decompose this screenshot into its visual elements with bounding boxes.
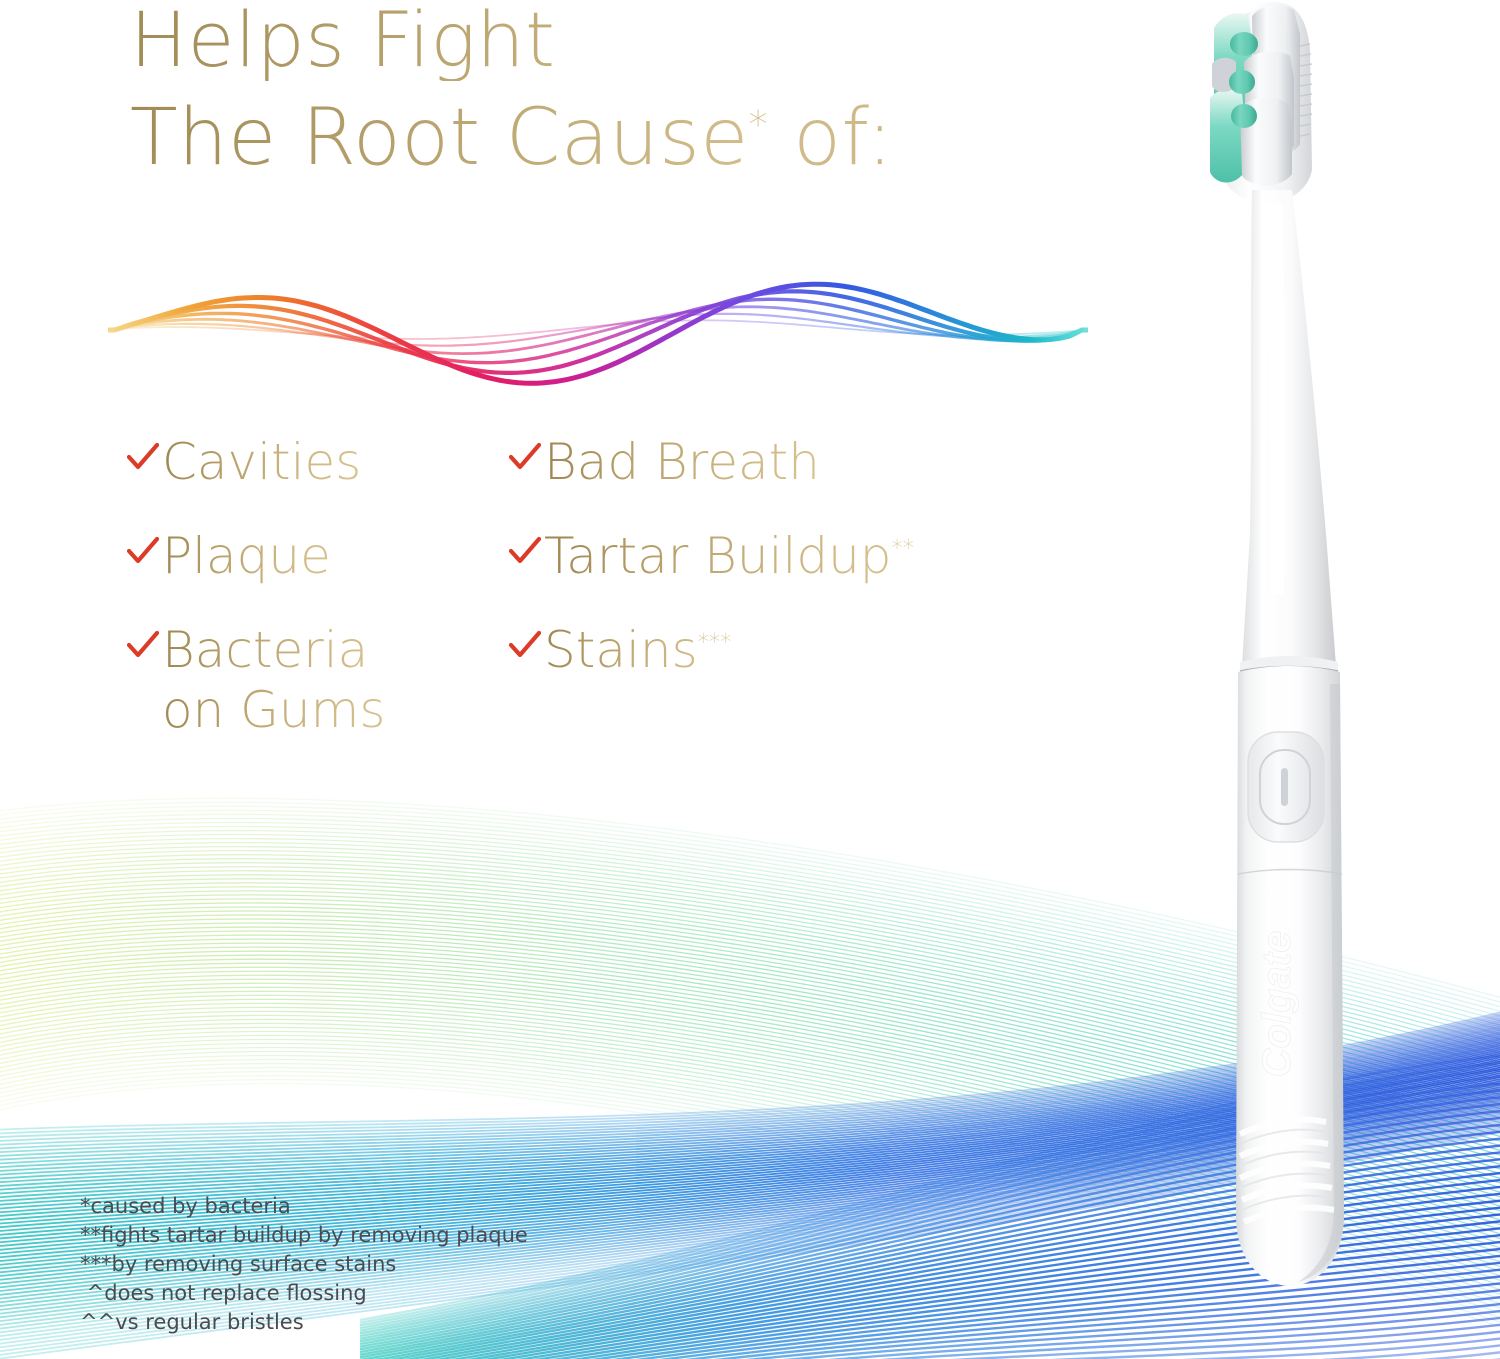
benefit-label-mark: *** — [698, 629, 732, 655]
footnotes-block: *caused by bacteria **fights tartar buil… — [80, 1192, 700, 1337]
brush-neck — [1242, 190, 1336, 666]
footnote-4: ^does not replace flossing — [80, 1279, 700, 1308]
electric-toothbrush-product: Colgate — [1140, 0, 1400, 1314]
brush-head — [1210, 2, 1312, 203]
benefit-item-tartar-buildup: Tartar Buildup** — [508, 526, 1068, 586]
bristle-tufts — [1210, 5, 1300, 185]
benefits-column-right: Bad Breath Tartar Buildup** Stains*** — [508, 432, 1068, 714]
power-button[interactable] — [1248, 732, 1324, 842]
check-icon — [508, 630, 544, 660]
check-icon — [126, 442, 162, 472]
headline-line-2-suffix: of: — [768, 93, 893, 183]
benefit-item-bad-breath: Bad Breath — [508, 432, 1068, 492]
benefit-label-text: Stains — [544, 621, 698, 679]
sonic-wave-graphic — [108, 252, 1088, 412]
benefits-column-left: Cavities Plaque Bacteria on Gums — [126, 432, 506, 774]
svg-text:Colgate: Colgate — [1255, 931, 1299, 1078]
benefit-label: Bad Breath — [544, 432, 820, 492]
benefit-item-bacteria-on-gums: Bacteria on Gums — [126, 620, 506, 740]
benefit-label-mark: ** — [892, 535, 915, 561]
ribbon-line — [360, 1337, 1500, 1359]
headline-line-2-text: The Root Cause — [130, 93, 749, 183]
ribbon-line — [360, 1344, 1500, 1359]
footnote-2: **fights tartar buildup by removing plaq… — [80, 1221, 700, 1250]
check-icon — [126, 536, 162, 566]
benefit-label: Tartar Buildup** — [544, 526, 914, 586]
footnote-1: *caused by bacteria — [80, 1192, 700, 1221]
benefit-label-text: Bad Breath — [544, 433, 820, 491]
benefit-label: Plaque — [162, 526, 331, 586]
footnote-5: ^^vs regular bristles — [80, 1308, 700, 1337]
headline-asterisk: * — [749, 102, 768, 146]
headline-line-2: The Root Cause* of: — [130, 97, 1130, 180]
benefit-label: Cavities — [162, 432, 361, 492]
check-icon — [508, 536, 544, 566]
benefit-item-cavities: Cavities — [126, 432, 506, 492]
product-marketing-image: Helps Fight The Root Cause* of: — [0, 0, 1500, 1359]
benefit-label-text: Tartar Buildup — [544, 527, 892, 585]
check-icon — [508, 442, 544, 472]
benefit-label: Bacteria on Gums — [162, 620, 385, 740]
footnote-3: ***by removing surface stains — [80, 1250, 700, 1279]
headline-block: Helps Fight The Root Cause* of: — [130, 0, 1130, 180]
benefit-item-stains: Stains*** — [508, 620, 1068, 680]
benefit-label: Stains*** — [544, 620, 731, 680]
headline-line-1: Helps Fight — [130, 0, 1130, 81]
check-icon — [126, 630, 162, 660]
benefit-item-plaque: Plaque — [126, 526, 506, 586]
ribbon-line — [360, 1351, 1500, 1359]
colgate-logo: Colgate — [1255, 931, 1299, 1078]
